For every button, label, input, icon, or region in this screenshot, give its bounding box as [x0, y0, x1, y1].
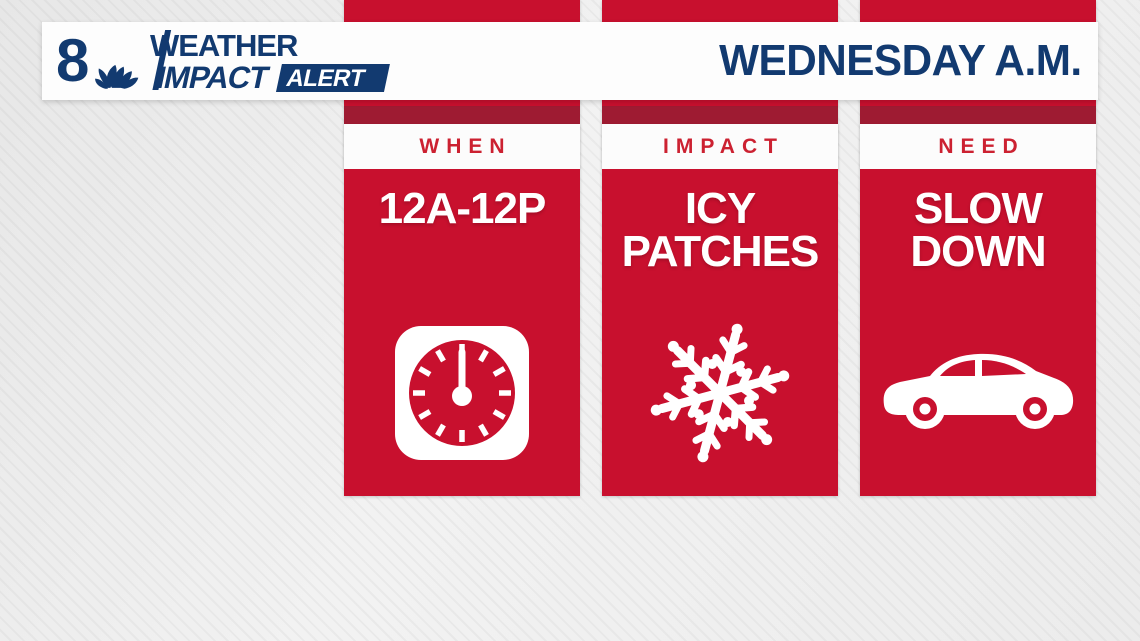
clock-icon [344, 318, 580, 468]
column-headline-when: 12A-12P [379, 187, 546, 230]
svg-text:ALERT: ALERT [284, 65, 368, 92]
column-label-bar-when: WHEN [344, 124, 580, 169]
column-body-need: SLOW DOWN [860, 169, 1096, 496]
column-label-when: WHEN [412, 136, 511, 157]
column-label-need: NEED [931, 136, 1024, 157]
column-headline-need: SLOW DOWN [910, 187, 1045, 273]
page-title: WEDNESDAY A.M. [719, 39, 1082, 83]
column-body-impact: ICY PATCHES [602, 169, 838, 496]
banner-title-wrap: WEDNESDAY A.M. [474, 39, 1098, 83]
weather-impact-alert-wordmark: WEATHER IMPACT ALERT [144, 26, 474, 96]
svg-text:WEATHER: WEATHER [150, 28, 298, 63]
weather-impact-alert-graphic: WHEN 12A-12P [0, 0, 1140, 641]
station-logo: 8 WEATHER IMPACT [56, 22, 474, 100]
column-body-when: 12A-12P [344, 169, 580, 496]
svg-text:IMPACT: IMPACT [153, 60, 272, 95]
column-headline-impact: ICY PATCHES [622, 187, 819, 273]
svg-text:8: 8 [56, 29, 89, 93]
column-label-bar-impact: IMPACT [602, 124, 838, 169]
snowflake-icon [602, 318, 838, 468]
channel-8-peacock-logo: 8 [56, 29, 144, 93]
column-label-bar-need: NEED [860, 124, 1096, 169]
column-label-impact: IMPACT [656, 136, 784, 157]
car-icon [860, 318, 1096, 468]
alert-banner: 8 WEATHER IMPACT [42, 22, 1098, 100]
